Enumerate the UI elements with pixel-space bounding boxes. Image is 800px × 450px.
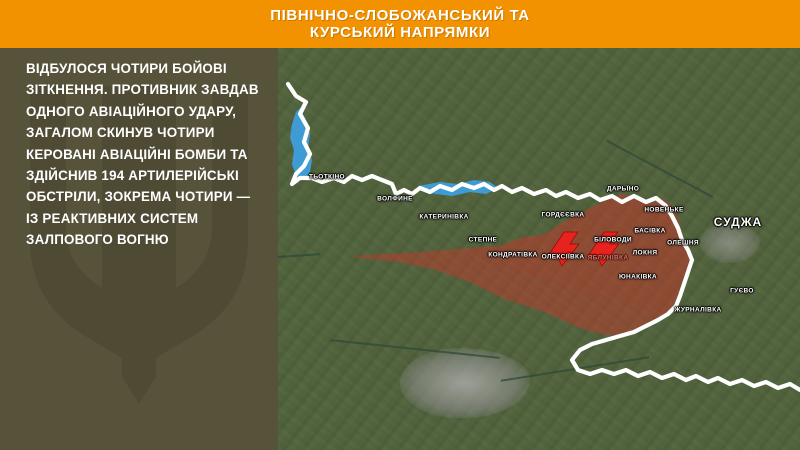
header-title-line-2: КУРСЬКИЙ НАПРЯМКИ (310, 24, 490, 41)
map-label-9: БАСІВКА (634, 228, 665, 235)
header-title-line-1: ПІВНІЧНО-СЛОБОЖАНСЬКИЙ ТА (270, 7, 530, 24)
map-label-5: ОЛЕКСІЇВКА (542, 254, 585, 261)
map-label-12: ЛОКНЯ (633, 250, 658, 257)
map-label-10: БІЛОВОДИ (594, 237, 632, 244)
report-panel: Відбулося чотири бойові зіткнення. Проти… (0, 48, 278, 450)
report-text: Відбулося чотири бойові зіткнення. Проти… (26, 58, 264, 251)
map-label-6: ГОРДЄЄВКА (542, 212, 585, 219)
map-label-13: ОЛЕШНЯ (667, 240, 699, 247)
map-label-17: СУДЖА (714, 215, 762, 229)
map-label-1: ВОЛФИНЕ (377, 196, 413, 203)
infographic-canvas: ТЬОТКІНОВОЛФИНЕКАТЕРИНІВКАСТЕПНЕКОНДРАТІ… (0, 0, 800, 450)
map-label-16: ЖУРНАЛІВКА (674, 307, 721, 314)
map-label-3: СТЕПНЕ (469, 237, 498, 244)
map-label-11: ЯБЛУНІВКА (588, 255, 629, 262)
map-label-7: ДАРЬЇНО (607, 186, 639, 193)
map-label-4: КОНДРАТІВКА (488, 252, 537, 259)
map-label-0: ТЬОТКІНО (309, 174, 345, 181)
map-label-15: ГУЄВО (730, 288, 754, 295)
map-label-8: НОВЕНЬКЕ (644, 207, 683, 214)
map-label-14: ЮНАКІВКА (619, 274, 657, 281)
map-label-2: КАТЕРИНІВКА (419, 214, 468, 221)
header-banner: ПІВНІЧНО-СЛОБОЖАНСЬКИЙ ТА КУРСЬКИЙ НАПРЯ… (0, 0, 800, 48)
